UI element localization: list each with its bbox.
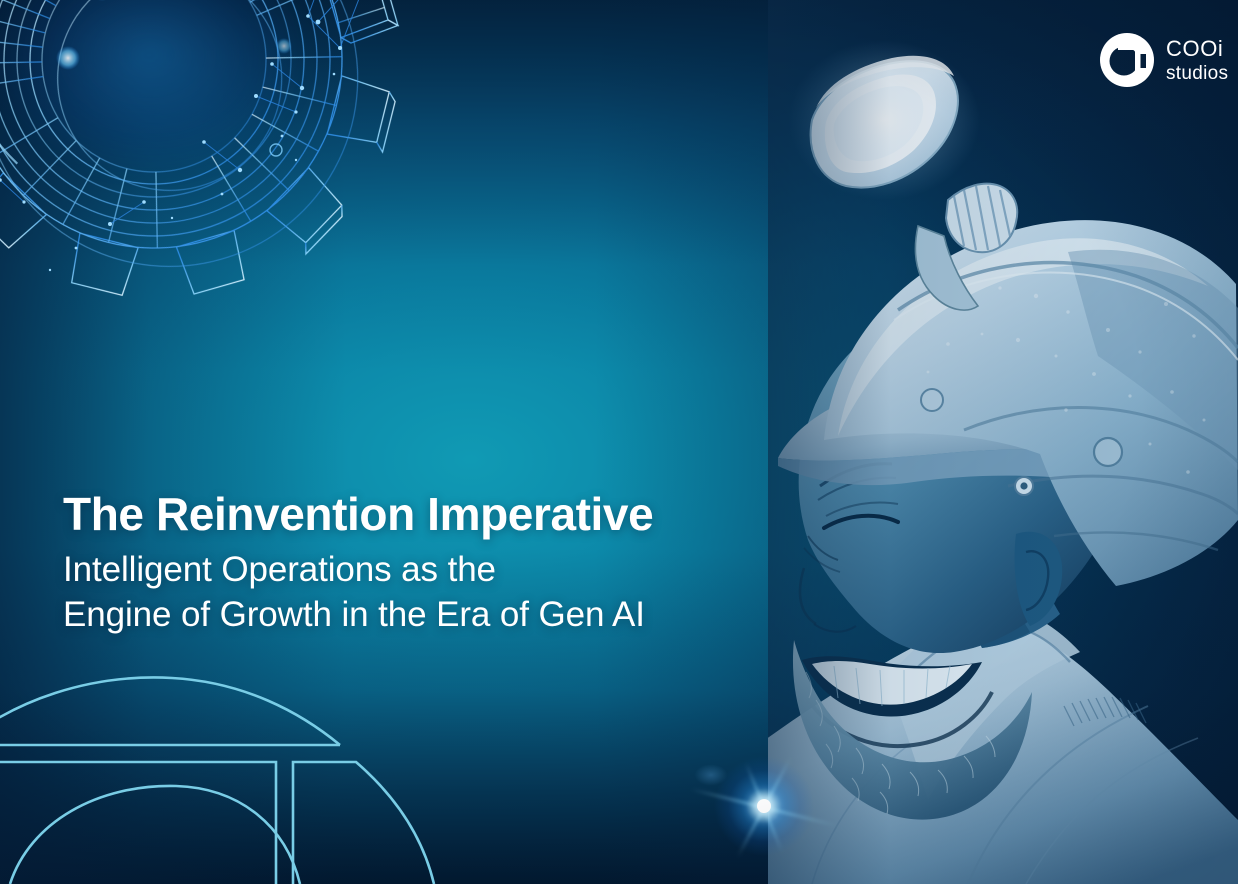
- page-title: The Reinvention Imperative: [63, 487, 823, 541]
- brand-name-line-1: COOi: [1166, 38, 1228, 60]
- page-subtitle: Intelligent Operations as the Engine of …: [63, 547, 823, 637]
- page-subtitle-line-2: Engine of Growth in the Era of Gen AI: [63, 592, 823, 637]
- page-subtitle-line-1: Intelligent Operations as the: [63, 547, 823, 592]
- brand-wordmark: COOi studios: [1166, 38, 1228, 83]
- brand-logo[interactable]: COOi studios: [1099, 32, 1228, 88]
- slide-canvas: The Reinvention Imperative Intelligent O…: [0, 0, 1238, 884]
- title-block: The Reinvention Imperative Intelligent O…: [63, 487, 823, 637]
- brand-name-line-2: studios: [1166, 64, 1228, 83]
- cooi-circle-mark-icon: [1099, 32, 1155, 88]
- background-vignette: [0, 0, 1238, 884]
